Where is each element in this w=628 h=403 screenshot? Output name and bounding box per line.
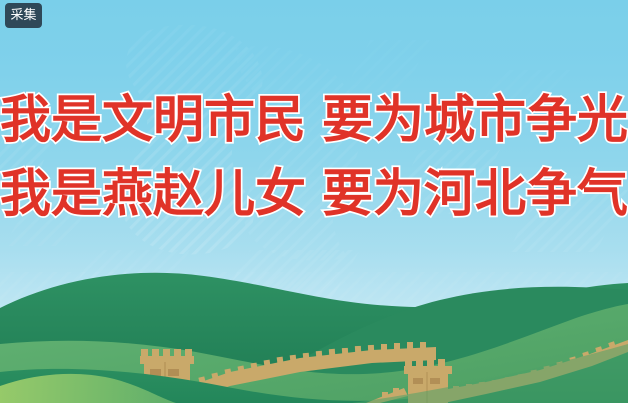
slogan-line-2: 我是燕赵儿女 要为河北争气 — [0, 162, 628, 228]
slogan-line-1-right: 要为城市争光 — [322, 88, 628, 154]
slogan-line-2-right: 要为河北争气 — [322, 162, 628, 228]
slogan-line-1-left: 我是文明市民 — [0, 88, 306, 154]
slogan-line-2-left: 我是燕赵儿女 — [0, 162, 306, 228]
propaganda-banner-image: 我是文明市民 要为城市争光 我是燕赵儿女 要为河北争气 采集 — [0, 0, 628, 403]
capture-button[interactable]: 采集 — [5, 3, 42, 28]
slogan-line-1: 我是文明市民 要为城市争光 — [0, 88, 628, 154]
slogan-text-block: 我是文明市民 要为城市争光 我是燕赵儿女 要为河北争气 — [0, 88, 628, 228]
